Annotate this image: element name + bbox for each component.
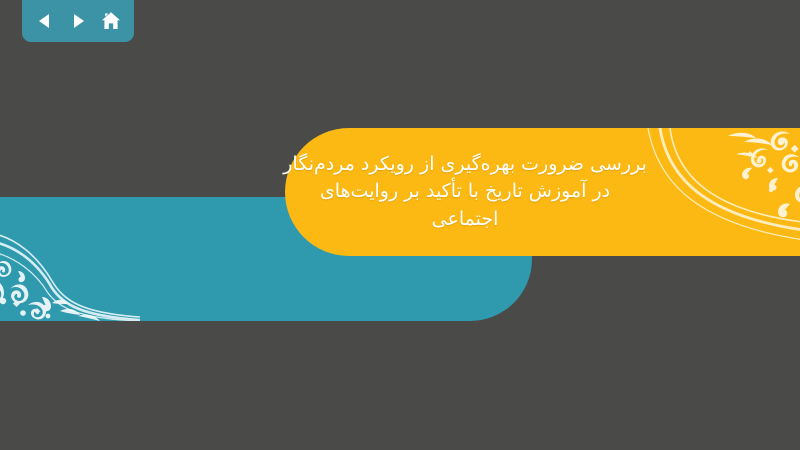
arabesque-ornament-top-right-icon (640, 128, 800, 256)
orange-title-panel (285, 128, 800, 256)
triangle-left-icon (35, 11, 55, 31)
home-button[interactable] (97, 7, 125, 35)
house-icon (100, 10, 122, 32)
back-button[interactable] (31, 7, 59, 35)
arabesque-ornament-bottom-left-icon (0, 213, 140, 321)
navigation-bar (22, 0, 134, 42)
triangle-right-icon (68, 11, 88, 31)
forward-button[interactable] (64, 7, 92, 35)
slide-canvas: بررسی ضرورت بهره‌گیری از رویکرد مردم‌نگا… (0, 0, 800, 450)
